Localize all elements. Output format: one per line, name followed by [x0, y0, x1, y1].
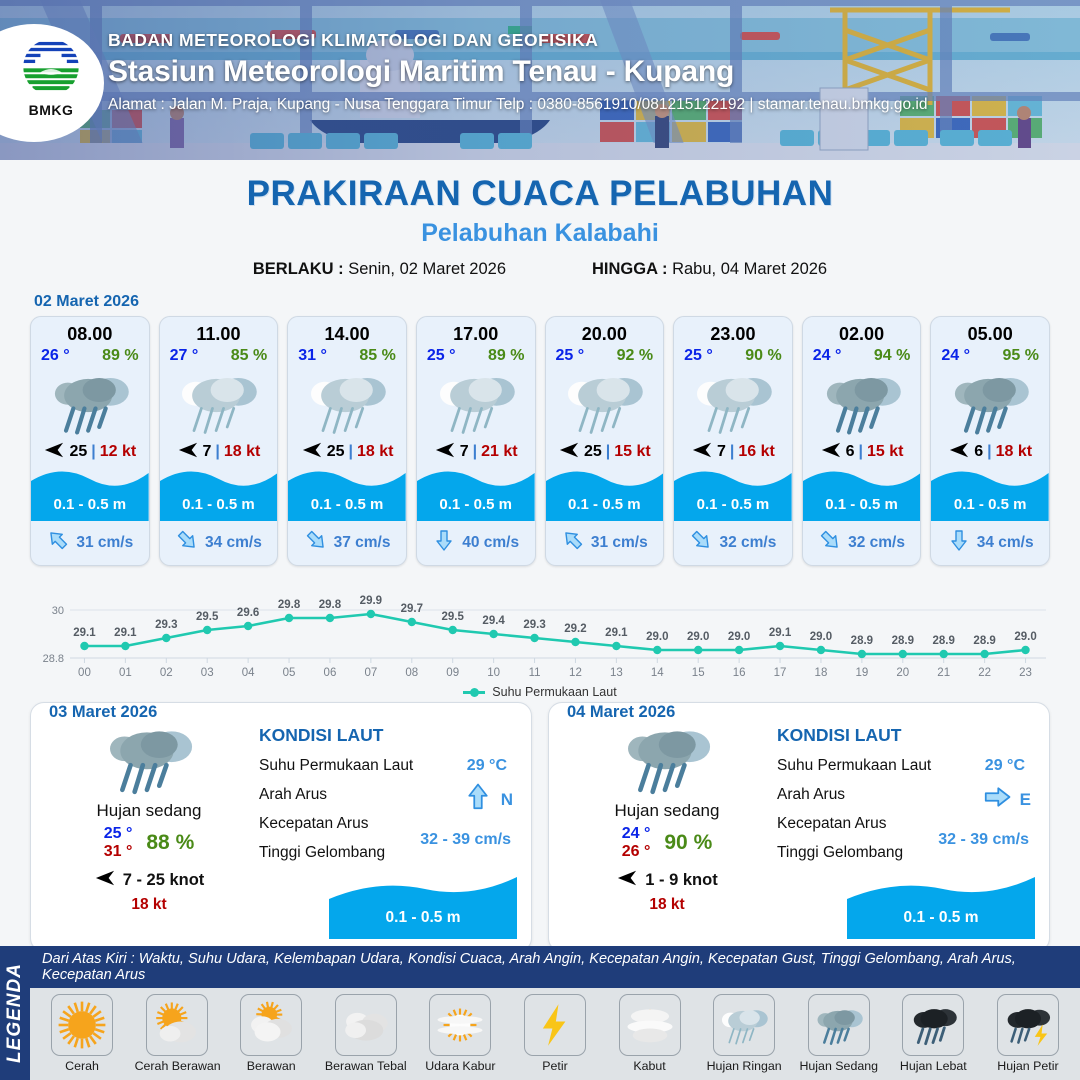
wave-height-label: Tinggi Gelombang — [777, 844, 903, 861]
svg-text:28.8: 28.8 — [43, 653, 64, 665]
legend-item-label: Petir — [513, 1059, 597, 1073]
legend-item: Hujan Sedang — [797, 994, 881, 1073]
thunderstorm-icon — [997, 994, 1059, 1056]
svg-text:29.1: 29.1 — [73, 627, 96, 639]
card-temperature: 31 ° — [298, 347, 327, 365]
card-humidity: 89 % — [488, 347, 524, 365]
svg-text:15: 15 — [692, 667, 705, 679]
hourly-forecast-row: 08.00 26 ° 89 % 25 | 12 kt 0.1 - 0.5 m — [0, 316, 1080, 566]
legend-item: Hujan Lebat — [891, 994, 975, 1073]
card-current-row: 32 cm/s — [803, 528, 921, 557]
current-direction-value: N — [501, 790, 513, 810]
validity-row: BERLAKU : Senin, 02 Maret 2026 HINGGA : … — [0, 260, 1080, 279]
legend-item-label: Berawan — [229, 1059, 313, 1073]
legend-item: Berawan — [229, 994, 313, 1073]
lightning-icon — [524, 994, 586, 1056]
summary-gust: 18 kt — [567, 896, 767, 914]
current-direction-arrow-icon — [982, 782, 1012, 817]
card-gust: 18 kt — [357, 443, 393, 461]
card-weather-icon — [160, 365, 278, 439]
card-time: 23.00 — [674, 324, 792, 345]
summary-temp-min: 24 ° — [622, 825, 651, 843]
wind-separator: | — [348, 443, 352, 461]
daily-summary-card: 04 Maret 2026 Hujan sedang 24 ° 26 ° 90 … — [548, 702, 1050, 952]
legend-item-label: Hujan Petir — [986, 1059, 1070, 1073]
wave-height-row: Tinggi Gelombang — [777, 844, 1035, 862]
svg-text:29.8: 29.8 — [278, 599, 301, 611]
card-weather-icon — [31, 365, 149, 439]
card-time: 17.00 — [417, 324, 535, 345]
card-wave-height: 0.1 - 0.5 m — [160, 496, 278, 513]
svg-text:29.1: 29.1 — [114, 627, 137, 639]
card-wind-speed: 25 — [327, 443, 345, 461]
card-wind-speed: 6 — [846, 443, 855, 461]
header-text-block: BADAN METEOROLOGI KLIMATOLOGI DAN GEOFIS… — [108, 30, 927, 114]
wind-separator: | — [987, 443, 991, 461]
card-temp-hum: 24 ° 95 % — [931, 345, 1049, 365]
legend-description: Dari Atas Kiri : Waktu, Suhu Udara, Kele… — [30, 946, 1080, 988]
svg-text:29.8: 29.8 — [319, 599, 342, 611]
card-temperature: 25 ° — [684, 347, 713, 365]
current-direction-arrow-icon — [818, 528, 842, 557]
legend-items: Cerah Cerah Berawan Berawan Berawan Teba… — [30, 988, 1080, 1080]
card-wave-height: 0.1 - 0.5 m — [931, 496, 1049, 513]
page-title: PRAKIRAAN CUACA PELABUHAN — [0, 174, 1080, 214]
legend-item: Hujan Petir — [986, 994, 1070, 1073]
card-humidity: 92 % — [617, 347, 653, 365]
card-gust: 18 kt — [996, 443, 1032, 461]
summary-weather-icon — [567, 717, 767, 799]
svg-text:29.3: 29.3 — [155, 619, 177, 631]
card-wave-height: 0.1 - 0.5 m — [31, 496, 149, 513]
card-temp-hum: 25 ° 89 % — [417, 345, 535, 365]
wind-direction-arrow-icon — [43, 440, 65, 465]
card-current-speed: 37 cm/s — [334, 534, 391, 552]
svg-text:29.0: 29.0 — [810, 631, 832, 643]
card-wind-speed: 6 — [974, 443, 983, 461]
svg-text:16: 16 — [733, 667, 746, 679]
card-temp-hum: 27 ° 85 % — [160, 345, 278, 365]
sea-conditions: KONDISI LAUT Suhu Permukaan Laut 29 °C A… — [259, 725, 517, 941]
card-current-speed: 40 cm/s — [462, 534, 519, 552]
wind-separator: | — [215, 443, 219, 461]
summary-gust: 18 kt — [49, 896, 249, 914]
sst-chart: 3028.829.10029.10129.30229.50329.60429.8… — [22, 576, 1058, 696]
forecast-date: 02 Maret 2026 — [34, 293, 1080, 311]
wind-separator: | — [606, 443, 610, 461]
legend-item-label: Hujan Sedang — [797, 1059, 881, 1073]
current-direction-row: Arah Arus E — [777, 786, 1035, 804]
svg-text:28.9: 28.9 — [851, 635, 873, 647]
page-header: BMKG BADAN METEOROLOGI KLIMATOLOGI DAN G… — [0, 0, 1080, 160]
svg-text:29.7: 29.7 — [401, 603, 423, 615]
summary-wave-height: 0.1 - 0.5 m — [847, 909, 1035, 927]
wind-direction-arrow-icon — [948, 440, 970, 465]
sea-conditions-title: KONDISI LAUT — [259, 725, 517, 746]
card-current-speed: 31 cm/s — [76, 534, 133, 552]
svg-text:29.6: 29.6 — [237, 607, 259, 619]
berlaku-label: BERLAKU : — [253, 260, 344, 278]
berlaku: BERLAKU : Senin, 02 Maret 2026 — [253, 260, 506, 279]
wind-direction-arrow-icon — [301, 440, 323, 465]
legend-section: LEGENDA Dari Atas Kiri : Waktu, Suhu Uda… — [0, 946, 1080, 1080]
card-current-row: 31 cm/s — [546, 528, 664, 557]
svg-text:29.5: 29.5 — [196, 611, 219, 623]
legend-item: Cerah Berawan — [135, 994, 219, 1073]
wind-separator: | — [859, 443, 863, 461]
sst-row: Suhu Permukaan Laut 29 °C — [777, 757, 1035, 775]
card-wind-speed: 7 — [203, 443, 212, 461]
card-wind-speed: 25 — [69, 443, 87, 461]
card-current-row: 40 cm/s — [417, 528, 535, 557]
card-temp-hum: 25 ° 90 % — [674, 345, 792, 365]
card-wave-height: 0.1 - 0.5 m — [674, 496, 792, 513]
svg-text:28.9: 28.9 — [933, 635, 955, 647]
current-speed-row: Kecepatan Arus 32 - 39 cm/s — [259, 815, 517, 833]
card-gust: 15 kt — [614, 443, 650, 461]
sst-label: Suhu Permukaan Laut — [259, 757, 413, 774]
svg-text:29.0: 29.0 — [687, 631, 709, 643]
card-wind-speed: 7 — [460, 443, 469, 461]
card-current-speed: 32 cm/s — [719, 534, 776, 552]
sst-value: 29 °C — [467, 757, 507, 775]
svg-text:29.0: 29.0 — [728, 631, 750, 643]
forecast-card: 23.00 25 ° 90 % 7 | 16 kt 0.1 - 0.5 m — [673, 316, 793, 566]
forecast-card: 08.00 26 ° 89 % 25 | 12 kt 0.1 - 0.5 m — [30, 316, 150, 566]
card-time: 20.00 — [546, 324, 664, 345]
svg-text:29.1: 29.1 — [769, 627, 792, 639]
bmkg-emblem-icon — [18, 34, 84, 100]
agency-name: BADAN METEOROLOGI KLIMATOLOGI DAN GEOFIS… — [108, 30, 927, 51]
current-direction-value-group: N — [463, 782, 513, 817]
berlaku-value: Senin, 02 Maret 2026 — [348, 260, 506, 278]
svg-text:30: 30 — [52, 605, 64, 617]
summary-temp-hum: 25 ° 31 ° 88 % — [49, 825, 249, 861]
sun-icon — [51, 994, 113, 1056]
current-direction-arrow-icon — [432, 528, 456, 557]
card-gust: 21 kt — [481, 443, 517, 461]
wind-direction-arrow-icon — [434, 440, 456, 465]
svg-text:29.4: 29.4 — [482, 615, 505, 627]
svg-text:08: 08 — [405, 667, 418, 679]
legend-item-label: Udara Kabur — [418, 1059, 502, 1073]
svg-text:21: 21 — [937, 667, 950, 679]
svg-text:20: 20 — [896, 667, 909, 679]
card-temperature: 24 ° — [941, 347, 970, 365]
summary-temp-max: 26 ° — [622, 843, 651, 861]
legend-item-label: Berawan Tebal — [324, 1059, 408, 1073]
legend-item: Hujan Ringan — [702, 994, 786, 1073]
svg-text:14: 14 — [651, 667, 664, 679]
summary-condition: Hujan sedang — [49, 801, 249, 821]
summary-temp-max: 31 ° — [104, 843, 133, 861]
hingga: HINGGA : Rabu, 04 Maret 2026 — [592, 260, 827, 279]
svg-text:07: 07 — [364, 667, 377, 679]
summary-weather-icon — [49, 717, 249, 799]
summary-temps: 24 ° 26 ° — [622, 825, 651, 861]
summary-wave-graphic: 0.1 - 0.5 m — [329, 873, 517, 939]
legend-item: Cerah — [40, 994, 124, 1073]
cloud-sun-icon — [240, 994, 302, 1056]
current-direction-arrow-icon — [463, 782, 493, 817]
current-direction-label: Arah Arus — [777, 786, 845, 803]
card-current-row: 32 cm/s — [674, 528, 792, 557]
card-current-row: 34 cm/s — [931, 528, 1049, 557]
svg-text:05: 05 — [283, 667, 296, 679]
legend-item-label: Cerah Berawan — [135, 1059, 219, 1073]
card-gust: 12 kt — [100, 443, 136, 461]
card-humidity: 85 % — [359, 347, 395, 365]
svg-text:28.9: 28.9 — [892, 635, 914, 647]
hingga-label: HINGGA : — [592, 260, 667, 278]
card-weather-icon — [417, 365, 535, 439]
current-direction-label: Arah Arus — [259, 786, 327, 803]
card-current-row: 37 cm/s — [288, 528, 406, 557]
card-weather-icon — [288, 365, 406, 439]
summary-temp-hum: 24 ° 26 ° 90 % — [567, 825, 767, 861]
svg-text:13: 13 — [610, 667, 623, 679]
card-weather-icon — [674, 365, 792, 439]
wave-height-row: Tinggi Gelombang — [259, 844, 517, 862]
forecast-card: 02.00 24 ° 94 % 6 | 15 kt 0.1 - 0.5 m — [802, 316, 922, 566]
card-current-row: 34 cm/s — [160, 528, 278, 557]
thick-cloud-icon — [335, 994, 397, 1056]
card-time: 11.00 — [160, 324, 278, 345]
sst-chart-canvas: 3028.829.10029.10129.30229.50329.60429.8… — [22, 576, 1058, 684]
bmkg-logo: BMKG — [14, 34, 88, 132]
chart-legend: Suhu Permukaan Laut — [22, 685, 1058, 699]
svg-text:29.3: 29.3 — [523, 619, 545, 631]
card-humidity: 95 % — [1003, 347, 1039, 365]
svg-text:29.5: 29.5 — [442, 611, 465, 623]
current-direction-value: E — [1020, 790, 1031, 810]
forecast-card: 17.00 25 ° 89 % 7 | 21 kt 0.1 - 0.5 m — [416, 316, 536, 566]
forecast-card: 05.00 24 ° 95 % 6 | 18 kt 0.1 - 0.5 m — [930, 316, 1050, 566]
current-direction-value-group: E — [982, 782, 1031, 817]
card-time: 02.00 — [803, 324, 921, 345]
svg-text:10: 10 — [487, 667, 500, 679]
card-humidity: 94 % — [874, 347, 910, 365]
svg-text:28.9: 28.9 — [973, 635, 995, 647]
svg-text:29.9: 29.9 — [360, 595, 382, 607]
card-wave-height: 0.1 - 0.5 m — [288, 496, 406, 513]
svg-text:03: 03 — [201, 667, 214, 679]
summary-humidity: 88 % — [146, 831, 194, 855]
legend-item: Petir — [513, 994, 597, 1073]
card-temperature: 27 ° — [170, 347, 199, 365]
svg-text:01: 01 — [119, 667, 132, 679]
sun-cloud-icon — [146, 994, 208, 1056]
svg-text:29.1: 29.1 — [605, 627, 628, 639]
legend-sidebar-label: LEGENDA — [4, 963, 26, 1063]
card-weather-icon — [803, 365, 921, 439]
svg-text:29.0: 29.0 — [1014, 631, 1036, 643]
card-humidity: 89 % — [102, 347, 138, 365]
current-direction-row: Arah Arus N — [259, 786, 517, 804]
card-current-speed: 31 cm/s — [591, 534, 648, 552]
legend-item: Berawan Tebal — [324, 994, 408, 1073]
current-speed-label: Kecepatan Arus — [259, 815, 368, 832]
daily-summary-row: 03 Maret 2026 Hujan sedang 25 ° 31 ° 88 … — [0, 696, 1080, 952]
moderate-rain-icon — [808, 994, 870, 1056]
svg-text:29.2: 29.2 — [564, 623, 586, 635]
card-wave-height: 0.1 - 0.5 m — [417, 496, 535, 513]
legend-main: Dari Atas Kiri : Waktu, Suhu Udara, Kele… — [30, 946, 1080, 1080]
summary-wave-height: 0.1 - 0.5 m — [329, 909, 517, 927]
summary-wind-row: 7 - 25 knot — [49, 868, 249, 893]
card-temp-hum: 24 ° 94 % — [803, 345, 921, 365]
wind-direction-arrow-icon — [94, 868, 116, 893]
summary-wind: 7 - 25 knot — [123, 871, 205, 890]
current-direction-arrow-icon — [561, 528, 585, 557]
current-direction-arrow-icon — [46, 528, 70, 557]
card-temperature: 25 ° — [427, 347, 456, 365]
card-wave-height: 0.1 - 0.5 m — [546, 496, 664, 513]
sst-row: Suhu Permukaan Laut 29 °C — [259, 757, 517, 775]
card-wave-height: 0.1 - 0.5 m — [803, 496, 921, 513]
summary-condition: Hujan sedang — [567, 801, 767, 821]
svg-text:09: 09 — [446, 667, 459, 679]
wind-separator: | — [91, 443, 95, 461]
summary-humidity: 90 % — [664, 831, 712, 855]
summary-wave-graphic: 0.1 - 0.5 m — [847, 873, 1035, 939]
station-address: Alamat : Jalan M. Praja, Kupang - Nusa T… — [108, 96, 927, 114]
summary-temps: 25 ° 31 ° — [104, 825, 133, 861]
summary-wind-row: 1 - 9 knot — [567, 868, 767, 893]
wind-direction-arrow-icon — [820, 440, 842, 465]
wind-direction-arrow-icon — [616, 868, 638, 893]
legend-item: Udara Kabur — [418, 994, 502, 1073]
wind-direction-arrow-icon — [558, 440, 580, 465]
sst-label: Suhu Permukaan Laut — [777, 757, 931, 774]
svg-text:23: 23 — [1019, 667, 1032, 679]
svg-text:11: 11 — [529, 667, 541, 679]
card-time: 05.00 — [931, 324, 1049, 345]
legend-item-label: Cerah — [40, 1059, 124, 1073]
svg-text:06: 06 — [324, 667, 337, 679]
forecast-card: 14.00 31 ° 85 % 25 | 18 kt 0.1 - 0.5 m — [287, 316, 407, 566]
forecast-card: 20.00 25 ° 92 % 25 | 15 kt 0.1 - 0.5 m — [545, 316, 665, 566]
current-direction-arrow-icon — [947, 528, 971, 557]
legend-series-label: Suhu Permukaan Laut — [492, 685, 616, 699]
svg-text:17: 17 — [774, 667, 787, 679]
sst-value: 29 °C — [985, 757, 1025, 775]
legend-item-label: Kabut — [608, 1059, 692, 1073]
summary-wind: 1 - 9 knot — [645, 871, 717, 890]
svg-text:29.0: 29.0 — [646, 631, 668, 643]
sea-conditions: KONDISI LAUT Suhu Permukaan Laut 29 °C A… — [777, 725, 1035, 941]
wind-direction-arrow-icon — [177, 440, 199, 465]
haze-icon — [429, 994, 491, 1056]
legend-line-marker — [463, 691, 485, 694]
daily-summary-card: 03 Maret 2026 Hujan sedang 25 ° 31 ° 88 … — [30, 702, 532, 952]
legend-item: Kabut — [608, 994, 692, 1073]
current-direction-arrow-icon — [304, 528, 328, 557]
fog-icon — [619, 994, 681, 1056]
card-humidity: 90 % — [745, 347, 781, 365]
card-temperature: 25 ° — [556, 347, 585, 365]
card-temperature: 26 ° — [41, 347, 70, 365]
page-subtitle: Pelabuhan Kalabahi — [0, 219, 1080, 248]
svg-text:04: 04 — [242, 667, 255, 679]
svg-text:22: 22 — [978, 667, 991, 679]
current-direction-arrow-icon — [689, 528, 713, 557]
summary-left: Hujan sedang 25 ° 31 ° 88 % 7 - 25 knot … — [49, 717, 249, 914]
card-time: 08.00 — [31, 324, 149, 345]
logo-label: BMKG — [29, 102, 74, 118]
card-current-speed: 34 cm/s — [205, 534, 262, 552]
current-speed-row: Kecepatan Arus 32 - 39 cm/s — [777, 815, 1035, 833]
card-weather-icon — [931, 365, 1049, 439]
svg-text:00: 00 — [78, 667, 91, 679]
card-humidity: 85 % — [231, 347, 267, 365]
legend-item-label: Hujan Lebat — [891, 1059, 975, 1073]
card-current-speed: 34 cm/s — [977, 534, 1034, 552]
legend-sidebar: LEGENDA — [0, 946, 30, 1080]
svg-text:12: 12 — [569, 667, 582, 679]
card-gust: 18 kt — [224, 443, 260, 461]
card-gust: 15 kt — [867, 443, 903, 461]
current-speed-label: Kecepatan Arus — [777, 815, 886, 832]
card-wind-speed: 25 — [584, 443, 602, 461]
card-time: 14.00 — [288, 324, 406, 345]
legend-item-label: Hujan Ringan — [702, 1059, 786, 1073]
hingga-value: Rabu, 04 Maret 2026 — [672, 260, 827, 278]
heavy-rain-icon — [902, 994, 964, 1056]
card-temperature: 24 ° — [813, 347, 842, 365]
summary-temp-min: 25 ° — [104, 825, 133, 843]
svg-text:02: 02 — [160, 667, 173, 679]
card-gust: 16 kt — [738, 443, 774, 461]
light-rain-icon — [713, 994, 775, 1056]
svg-text:18: 18 — [815, 667, 828, 679]
summary-left: Hujan sedang 24 ° 26 ° 90 % 1 - 9 knot 1… — [567, 717, 767, 914]
forecast-card: 11.00 27 ° 85 % 7 | 18 kt 0.1 - 0.5 m — [159, 316, 279, 566]
card-wind-speed: 7 — [717, 443, 726, 461]
card-temp-hum: 31 ° 85 % — [288, 345, 406, 365]
card-temp-hum: 25 ° 92 % — [546, 345, 664, 365]
card-temp-hum: 26 ° 89 % — [31, 345, 149, 365]
wind-separator: | — [730, 443, 734, 461]
wind-separator: | — [473, 443, 477, 461]
card-weather-icon — [546, 365, 664, 439]
wind-direction-arrow-icon — [691, 440, 713, 465]
sea-conditions-title: KONDISI LAUT — [777, 725, 1035, 746]
station-name: Stasiun Meteorologi Maritim Tenau - Kupa… — [108, 55, 927, 89]
wave-height-label: Tinggi Gelombang — [259, 844, 385, 861]
card-current-row: 31 cm/s — [31, 528, 149, 557]
card-current-speed: 32 cm/s — [848, 534, 905, 552]
svg-text:19: 19 — [855, 667, 868, 679]
current-direction-arrow-icon — [175, 528, 199, 557]
title-block: PRAKIRAAN CUACA PELABUHAN Pelabuhan Kala… — [0, 160, 1080, 279]
